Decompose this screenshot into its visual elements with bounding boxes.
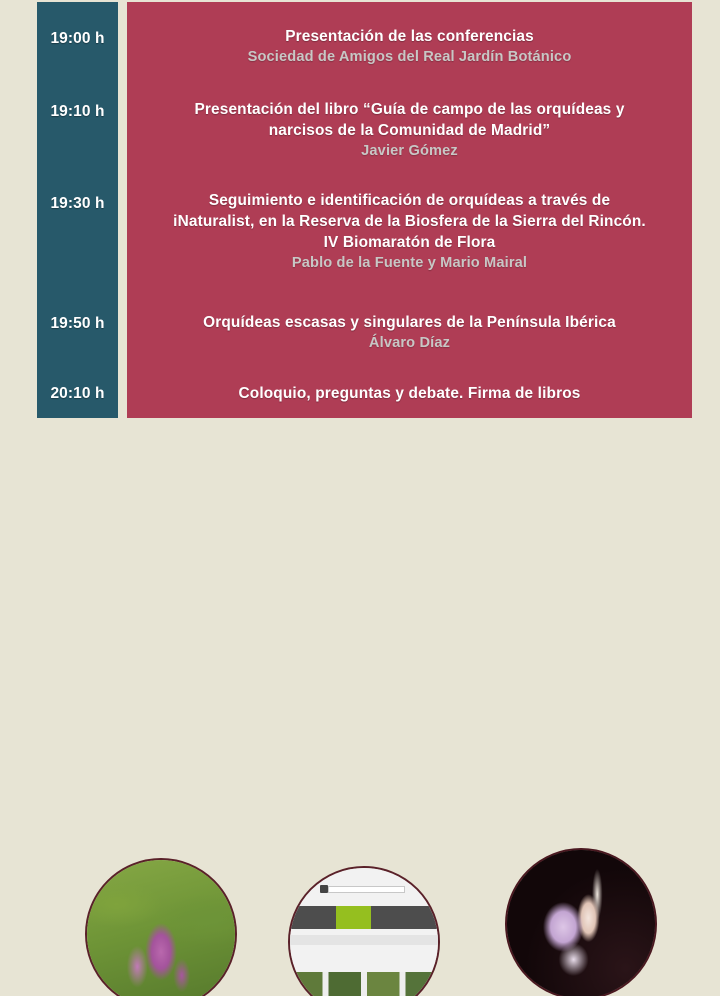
conference-program-poster: 19:00 h 19:10 h 19:30 h 19:50 h 20:10 h … — [0, 0, 720, 498]
inaturalist-screenshot-image — [290, 868, 438, 996]
session-4-speaker: Álvaro Díaz — [137, 333, 682, 353]
session-2: Presentación del libro “Guía de campo de… — [127, 99, 692, 161]
inaturalist-screenshot-photo — [288, 866, 440, 996]
session-2-speaker: Javier Gómez — [137, 141, 682, 161]
screenshot-sub-bar — [290, 935, 438, 945]
session-1-title-line-1: Presentación de las conferencias — [137, 26, 682, 47]
pink-orchid-closeup-photo — [505, 848, 657, 996]
screenshot-thumbnail-grid — [290, 972, 438, 996]
session-5-title-line-1: Coloquio, preguntas y debate. Firma de l… — [137, 383, 682, 404]
session-3-speaker: Pablo de la Fuente y Mario Mairal — [137, 253, 682, 273]
screenshot-search-input — [328, 886, 405, 893]
session-3: Seguimiento e identificación de orquídea… — [127, 190, 692, 273]
session-1: Presentación de las conferencias Socieda… — [127, 26, 692, 67]
session-1-speaker: Sociedad de Amigos del Real Jardín Botán… — [137, 47, 682, 67]
orchid-meadow-image — [87, 860, 235, 996]
session-3-title-line-2: iNaturalist, en la Reserva de la Biosfer… — [137, 211, 682, 232]
inaturalist-logo-icon — [320, 885, 328, 893]
session-2-title-line-1: Presentación del libro “Guía de campo de… — [137, 99, 682, 120]
session-2-title-line-2: narcisos de la Comunidad de Madrid” — [137, 120, 682, 141]
orchid-meadow-photo — [85, 858, 237, 996]
session-3-title-line-1: Seguimiento e identificación de orquídea… — [137, 190, 682, 211]
session-4: Orquídeas escasas y singulares de la Pen… — [127, 312, 692, 353]
time-slot-3: 19:30 h — [37, 195, 118, 213]
time-slot-1: 19:00 h — [37, 30, 118, 48]
session-4-title-line-1: Orquídeas escasas y singulares de la Pen… — [137, 312, 682, 333]
photo-strip — [0, 420, 720, 498]
pink-orchid-closeup-image — [507, 850, 655, 996]
screenshot-nav-active-item — [336, 906, 372, 928]
session-3-title-line-3: IV Biomaratón de Flora — [137, 232, 682, 253]
session-5: Coloquio, preguntas y debate. Firma de l… — [127, 383, 692, 404]
schedule-block: 19:00 h 19:10 h 19:30 h 19:50 h 20:10 h … — [0, 0, 720, 420]
program-column: Presentación de las conferencias Socieda… — [127, 2, 692, 418]
time-slot-5: 20:10 h — [37, 385, 118, 403]
time-column: 19:00 h 19:10 h 19:30 h 19:50 h 20:10 h — [37, 2, 118, 418]
time-slot-2: 19:10 h — [37, 103, 118, 121]
time-slot-4: 19:50 h — [37, 315, 118, 333]
